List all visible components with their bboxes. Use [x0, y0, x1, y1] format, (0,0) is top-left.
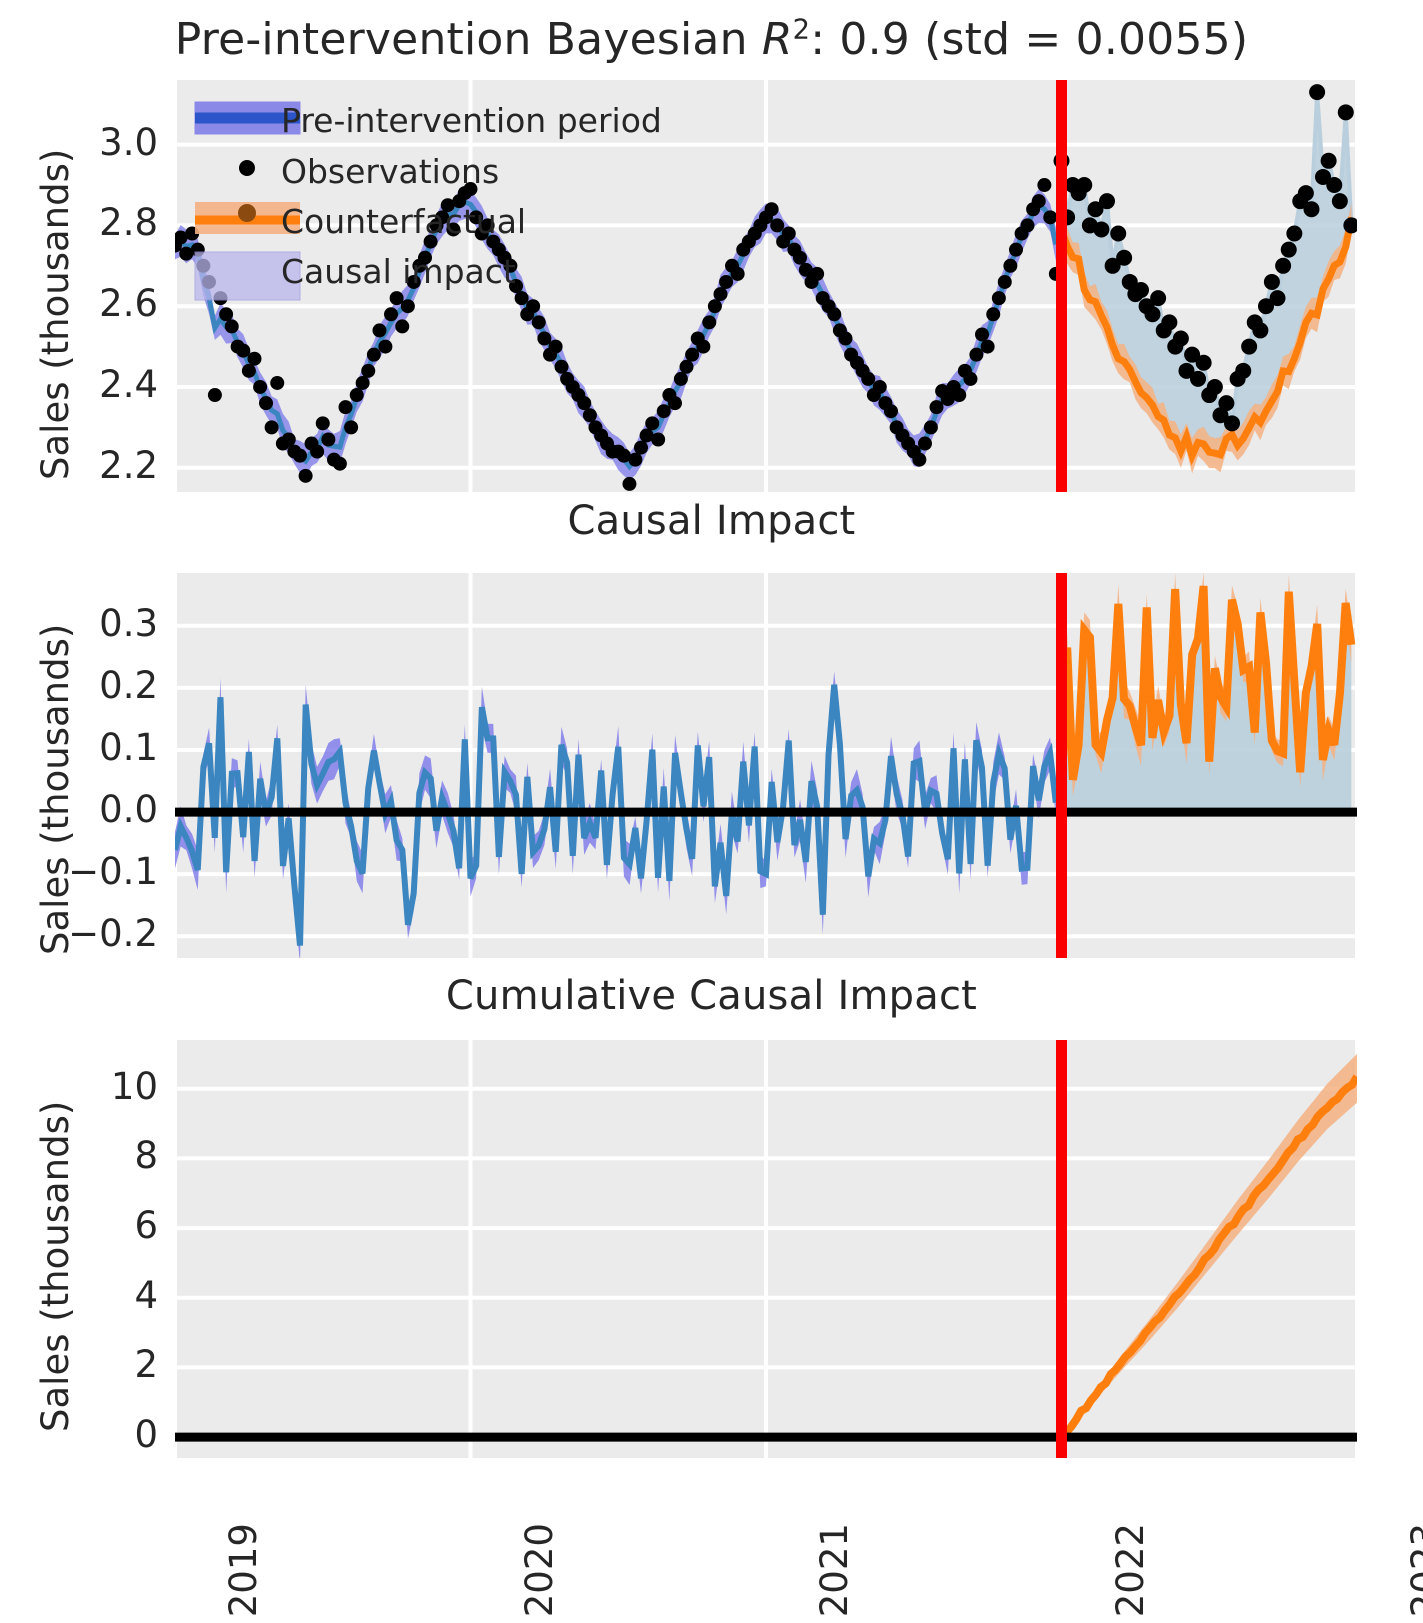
observation-point	[651, 432, 665, 446]
observation-point	[265, 420, 279, 434]
x-tick-label: 2020	[518, 1523, 561, 1617]
observation-point	[1286, 225, 1302, 241]
title-r-symbol: R	[762, 14, 793, 65]
observation-point	[668, 396, 682, 410]
y-tick-label: 2.8	[40, 201, 158, 244]
observation-point	[1275, 258, 1291, 274]
observation-point	[367, 348, 381, 362]
x-tick-label: 2023	[1404, 1523, 1423, 1617]
observation-point	[1298, 185, 1314, 201]
observation-point	[583, 408, 597, 422]
observation-point	[1009, 243, 1023, 257]
observation-point	[1338, 104, 1354, 120]
observation-point	[293, 449, 307, 463]
y-tick-label: 6	[40, 1204, 158, 1247]
observation-point	[1207, 379, 1223, 395]
observation-point	[770, 218, 784, 232]
legend-label-counterfactual: Counterfactual	[281, 202, 526, 241]
panel3-plot-area	[175, 1040, 1357, 1458]
observation-point	[884, 404, 898, 418]
y-tick-label: −0.2	[40, 912, 158, 955]
observation-point	[555, 360, 569, 374]
observation-point	[1076, 177, 1092, 193]
y-tick-label: 0.2	[40, 664, 158, 707]
observation-point	[680, 360, 694, 374]
y-tick-label: 10	[40, 1065, 158, 1108]
observation-point	[1173, 331, 1189, 347]
y-tick-label: 0	[40, 1413, 158, 1456]
observation-point	[782, 226, 796, 240]
legend-label-observations: Observations	[281, 152, 499, 191]
observation-point	[1241, 339, 1257, 355]
observation-point	[372, 323, 386, 337]
y-tick-label: 8	[40, 1134, 158, 1177]
observation-point	[1043, 210, 1057, 224]
observation-point	[1281, 242, 1297, 258]
observation-point	[1332, 193, 1348, 209]
legend-swatch-observation-dot	[239, 160, 255, 176]
observation-point	[526, 299, 540, 313]
observation-point	[384, 307, 398, 321]
y-tick-label: 0.1	[40, 726, 158, 769]
observation-point	[992, 291, 1006, 305]
observation-point	[1218, 395, 1234, 411]
observation-point	[1190, 371, 1206, 387]
observation-point	[401, 299, 415, 313]
observation-point	[350, 388, 364, 402]
observation-point	[1150, 290, 1166, 306]
observation-point	[634, 441, 648, 455]
observation-point	[236, 344, 250, 358]
observation-point	[321, 432, 335, 446]
observation-point	[395, 319, 409, 333]
observation-point	[838, 332, 852, 346]
observation-point	[316, 416, 330, 430]
observation-point	[702, 315, 716, 329]
observation-point	[259, 396, 273, 410]
observation-point	[998, 275, 1012, 289]
y-tick-label: −0.1	[40, 850, 158, 893]
observation-point	[793, 251, 807, 265]
observation-point	[1303, 201, 1319, 217]
y-tick-label: 2.4	[40, 363, 158, 406]
observation-point	[1093, 221, 1109, 237]
observation-point	[378, 340, 392, 354]
observation-point	[1224, 415, 1240, 431]
observation-point	[674, 372, 688, 386]
observation-point	[1235, 363, 1251, 379]
observation-point	[765, 202, 779, 216]
y-tick-label: 2.6	[40, 282, 158, 325]
observation-point	[361, 364, 375, 378]
observation-point	[975, 327, 989, 341]
observation-point	[696, 340, 710, 354]
observation-point	[270, 376, 284, 390]
observation-point	[1116, 250, 1132, 266]
observation-point	[549, 340, 563, 354]
y-tick-label: 2.2	[40, 444, 158, 487]
observation-point	[969, 348, 983, 362]
observation-point	[1145, 306, 1161, 322]
observation-point	[1264, 274, 1280, 290]
observation-point	[873, 380, 887, 394]
title-exponent: 2	[793, 14, 811, 45]
observation-point	[1161, 314, 1177, 330]
observation-point	[242, 364, 256, 378]
observation-point	[645, 416, 659, 430]
observation-point	[952, 388, 966, 402]
observation-point	[1110, 225, 1126, 241]
panel3-y-ticks: 1086420	[40, 1040, 158, 1458]
observation-point	[810, 267, 824, 281]
title-prefix: Pre-intervention Bayesian	[175, 14, 762, 65]
observation-point	[339, 400, 353, 414]
observation-point	[861, 372, 875, 386]
observation-point	[208, 388, 222, 402]
observation-point	[930, 400, 944, 414]
observation-point	[1252, 322, 1268, 338]
panel3-title: Cumulative Causal Impact	[0, 973, 1423, 1019]
observation-point	[628, 453, 642, 467]
observation-point	[1196, 355, 1212, 371]
observation-point	[1270, 290, 1286, 306]
observation-point	[282, 432, 296, 446]
observation-point	[924, 420, 938, 434]
observation-point	[1099, 193, 1115, 209]
observation-point	[253, 380, 267, 394]
observation-point	[912, 453, 926, 467]
observation-point	[1133, 282, 1149, 298]
observation-point	[390, 291, 404, 305]
observation-point	[219, 307, 233, 321]
observation-point	[247, 352, 261, 366]
observation-point	[1321, 153, 1337, 169]
observation-point	[1021, 218, 1035, 232]
y-tick-label: 4	[40, 1274, 158, 1317]
x-tick-label: 2019	[222, 1523, 265, 1617]
observation-point	[515, 291, 529, 305]
panel2-y-ticks: 0.30.20.10.0−0.1−0.2	[40, 573, 158, 958]
observation-point	[963, 372, 977, 386]
observation-point	[577, 396, 591, 410]
y-tick-label: 2	[40, 1343, 158, 1386]
observation-point	[225, 319, 239, 333]
y-tick-label: 3.0	[40, 121, 158, 164]
observation-point	[981, 340, 995, 354]
observation-point	[310, 445, 324, 459]
legend-label-pre-intervention: Pre-intervention period	[281, 101, 662, 140]
panel2-plot-area	[175, 573, 1357, 958]
observation-point	[657, 404, 671, 418]
observation-point	[1032, 194, 1046, 208]
page-title: Pre-intervention Bayesian R2: 0.9 (std =…	[0, 14, 1423, 65]
y-tick-label: 0.0	[40, 788, 158, 831]
y-tick-label: 0.3	[40, 602, 158, 645]
title-suffix: : 0.9 (std = 0.0055)	[810, 14, 1248, 65]
observation-point	[537, 332, 551, 346]
observation-point	[986, 307, 1000, 321]
legend-swatch-counterfactual-dot	[238, 204, 256, 222]
observation-point	[1326, 177, 1342, 193]
observation-point	[356, 376, 370, 390]
observation-point	[1037, 178, 1051, 192]
observation-point	[532, 315, 546, 329]
observation-point	[344, 420, 358, 434]
panel1-y-ticks: 2.22.42.62.83.0	[40, 80, 158, 492]
observation-point	[299, 469, 313, 483]
observation-point	[685, 348, 699, 362]
observation-point	[731, 267, 745, 281]
observation-point	[827, 307, 841, 321]
x-tick-label: 2021	[813, 1523, 856, 1617]
observation-point	[1003, 259, 1017, 273]
observation-point	[1309, 84, 1325, 100]
observation-point	[719, 275, 733, 289]
panel2-title: Causal Impact	[0, 498, 1423, 544]
observation-point	[918, 437, 932, 451]
legend-label-causal-impact: Causal impact	[281, 252, 516, 291]
observation-point	[708, 299, 722, 313]
observation-point	[713, 287, 727, 301]
causal-impact-figure: Pre-intervention Bayesian R2: 0.9 (std =…	[0, 0, 1423, 1623]
x-tick-label: 2022	[1109, 1523, 1152, 1617]
observation-point	[622, 477, 636, 491]
observation-point	[333, 457, 347, 471]
